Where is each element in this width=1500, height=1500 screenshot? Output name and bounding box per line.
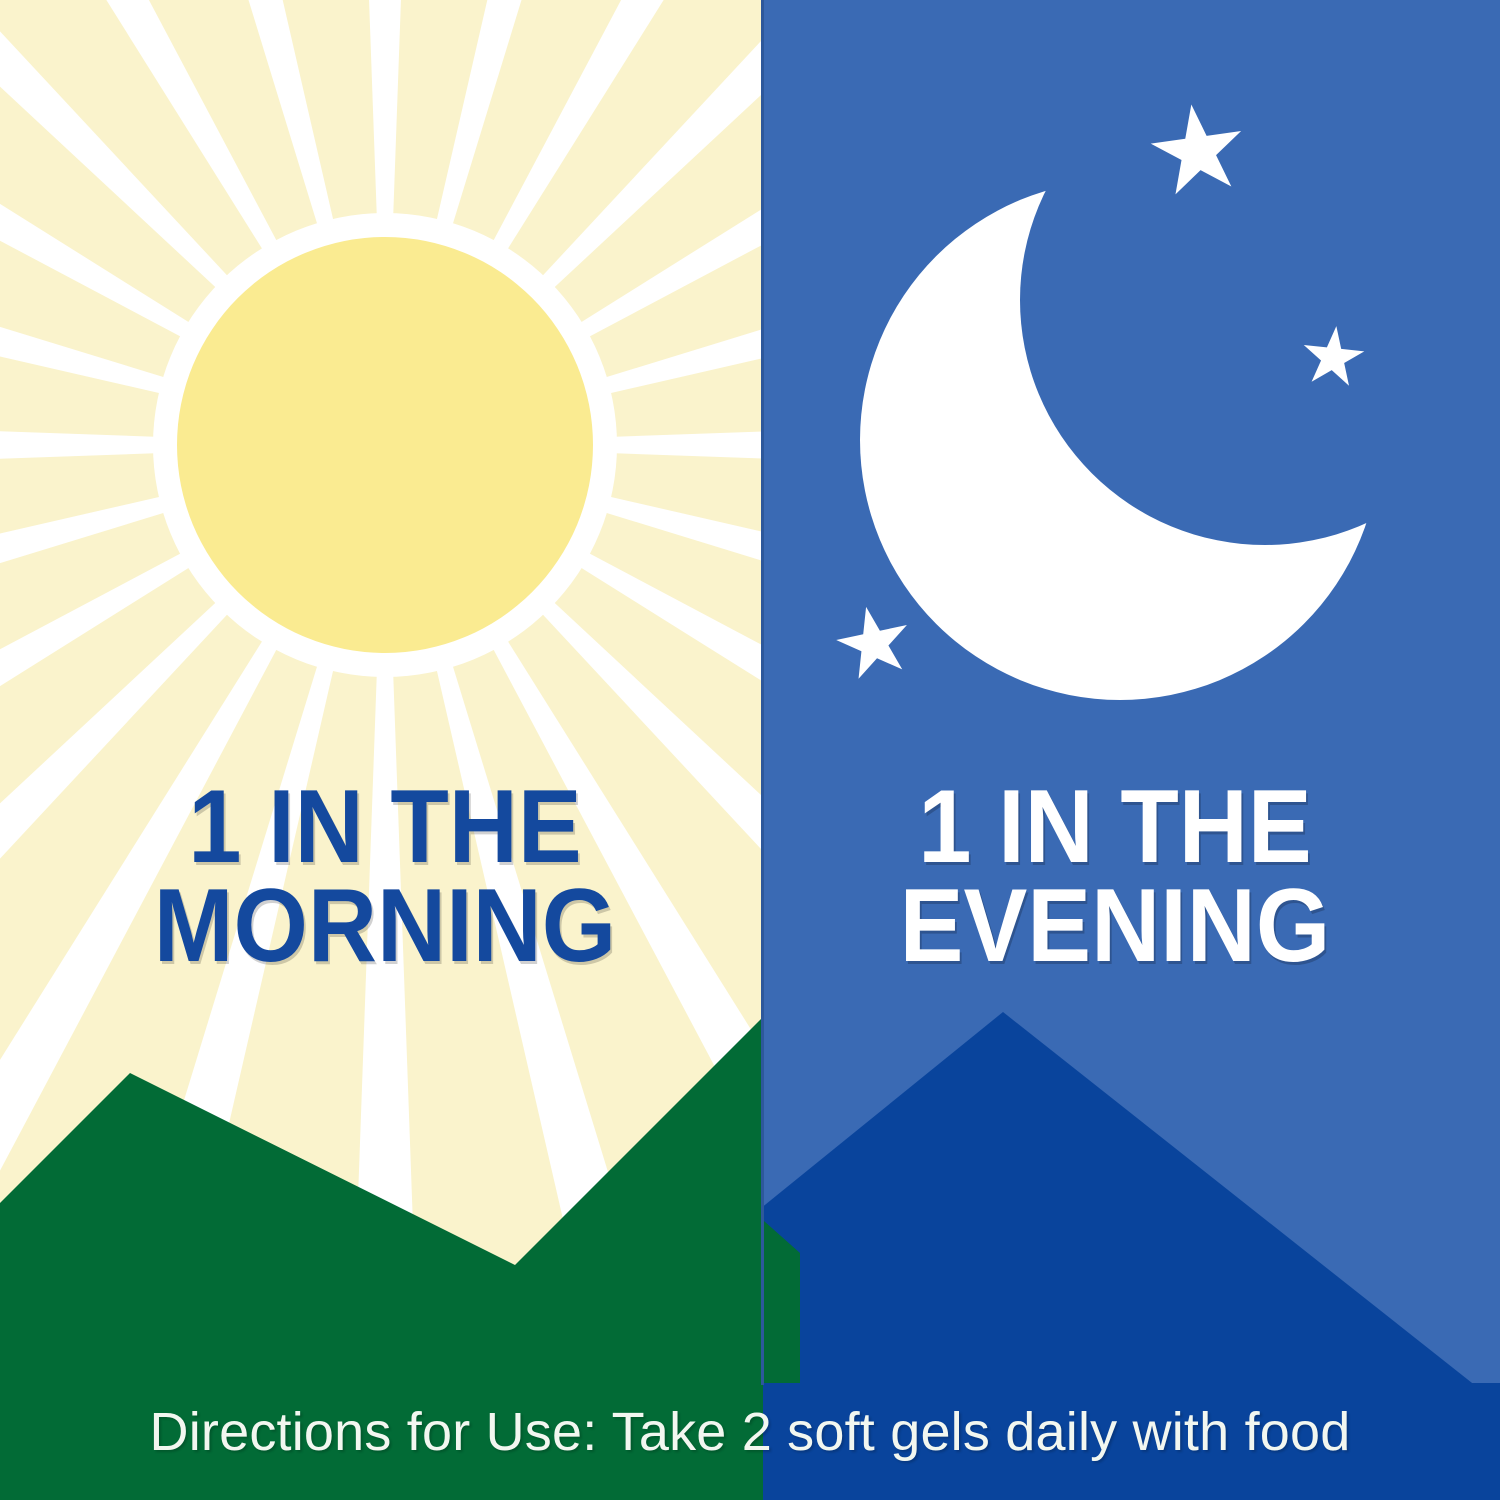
evening-panel-graphics bbox=[755, 0, 1500, 1500]
scene-illustration bbox=[0, 0, 1500, 1500]
sun-disc bbox=[177, 237, 593, 653]
evening-headline: 1 IN THE EVENING bbox=[798, 778, 1433, 976]
product-infographic: 1 IN THE MORNING 1 IN THE EVENING Direct… bbox=[0, 0, 1500, 1500]
panel-divider bbox=[761, 0, 764, 1385]
directions-for-use-text: Directions for Use: Take 2 soft gels dai… bbox=[0, 1402, 1500, 1462]
morning-headline: 1 IN THE MORNING bbox=[68, 778, 703, 976]
